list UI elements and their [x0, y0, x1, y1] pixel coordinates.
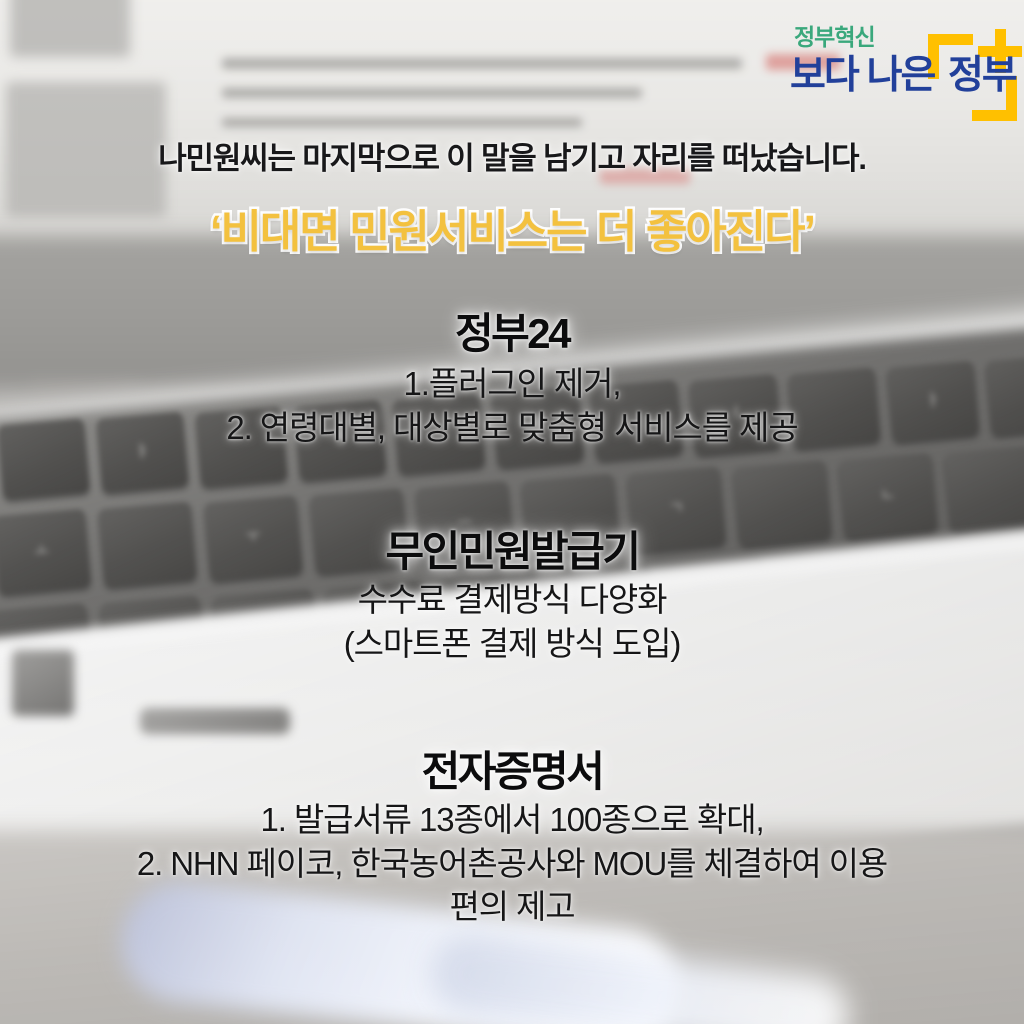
- section-body-kiosk: 수수료 결제방식 다양화 (스마트폰 결제 방식 도입): [0, 578, 1024, 665]
- lead-sentence: 나민원씨는 마지막으로 이 말을 남기고 자리를 떠났습니다.: [0, 133, 1024, 178]
- section-title-kiosk: 무인민원발급기: [0, 518, 1024, 579]
- section-line: 편의 제고: [0, 885, 1024, 929]
- section-title-certificate: 전자증명서: [0, 738, 1024, 799]
- section-line: 2. NHN 페이코, 한국농어촌공사와 MOU를 체결하여 이용: [0, 842, 1024, 886]
- section-line: 1. 발급서류 13종에서 100종으로 확대,: [0, 798, 1024, 842]
- section-body-certificate: 1. 발급서류 13종에서 100종으로 확대, 2. NHN 페이코, 한국농…: [0, 798, 1024, 929]
- section-line: (스마트폰 결제 방식 도입): [0, 622, 1024, 666]
- content-area: 나민원씨는 마지막으로 이 말을 남기고 자리를 떠났습니다. ‘비대면 민원서…: [0, 0, 1024, 1024]
- section-line: 수수료 결제방식 다양화: [0, 578, 1024, 622]
- section-body-gov24: 1.플러그인 제거, 2. 연령대별, 대상별로 맞춤형 서비스를 제공: [0, 362, 1024, 449]
- headline-quote: ‘비대면 민원서비스는 더 좋아진다’: [0, 195, 1024, 260]
- section-line: 2. 연령대별, 대상별로 맞춤형 서비스를 제공: [0, 406, 1024, 450]
- section-title-gov24: 정부24: [0, 300, 1024, 361]
- logo-gov-text: 정부: [948, 44, 1016, 100]
- card-news-slide: ㅕㅑㅐㅔㅓㅏㅣㅗㅜㅡㄱㄴㄷㄹㅁㅂㅅㅇㅈㅊㅋㅌㅍㅎㅕ 정부혁신 보다 나은 정부 …: [0, 0, 1024, 1024]
- section-line: 1.플러그인 제거,: [0, 362, 1024, 406]
